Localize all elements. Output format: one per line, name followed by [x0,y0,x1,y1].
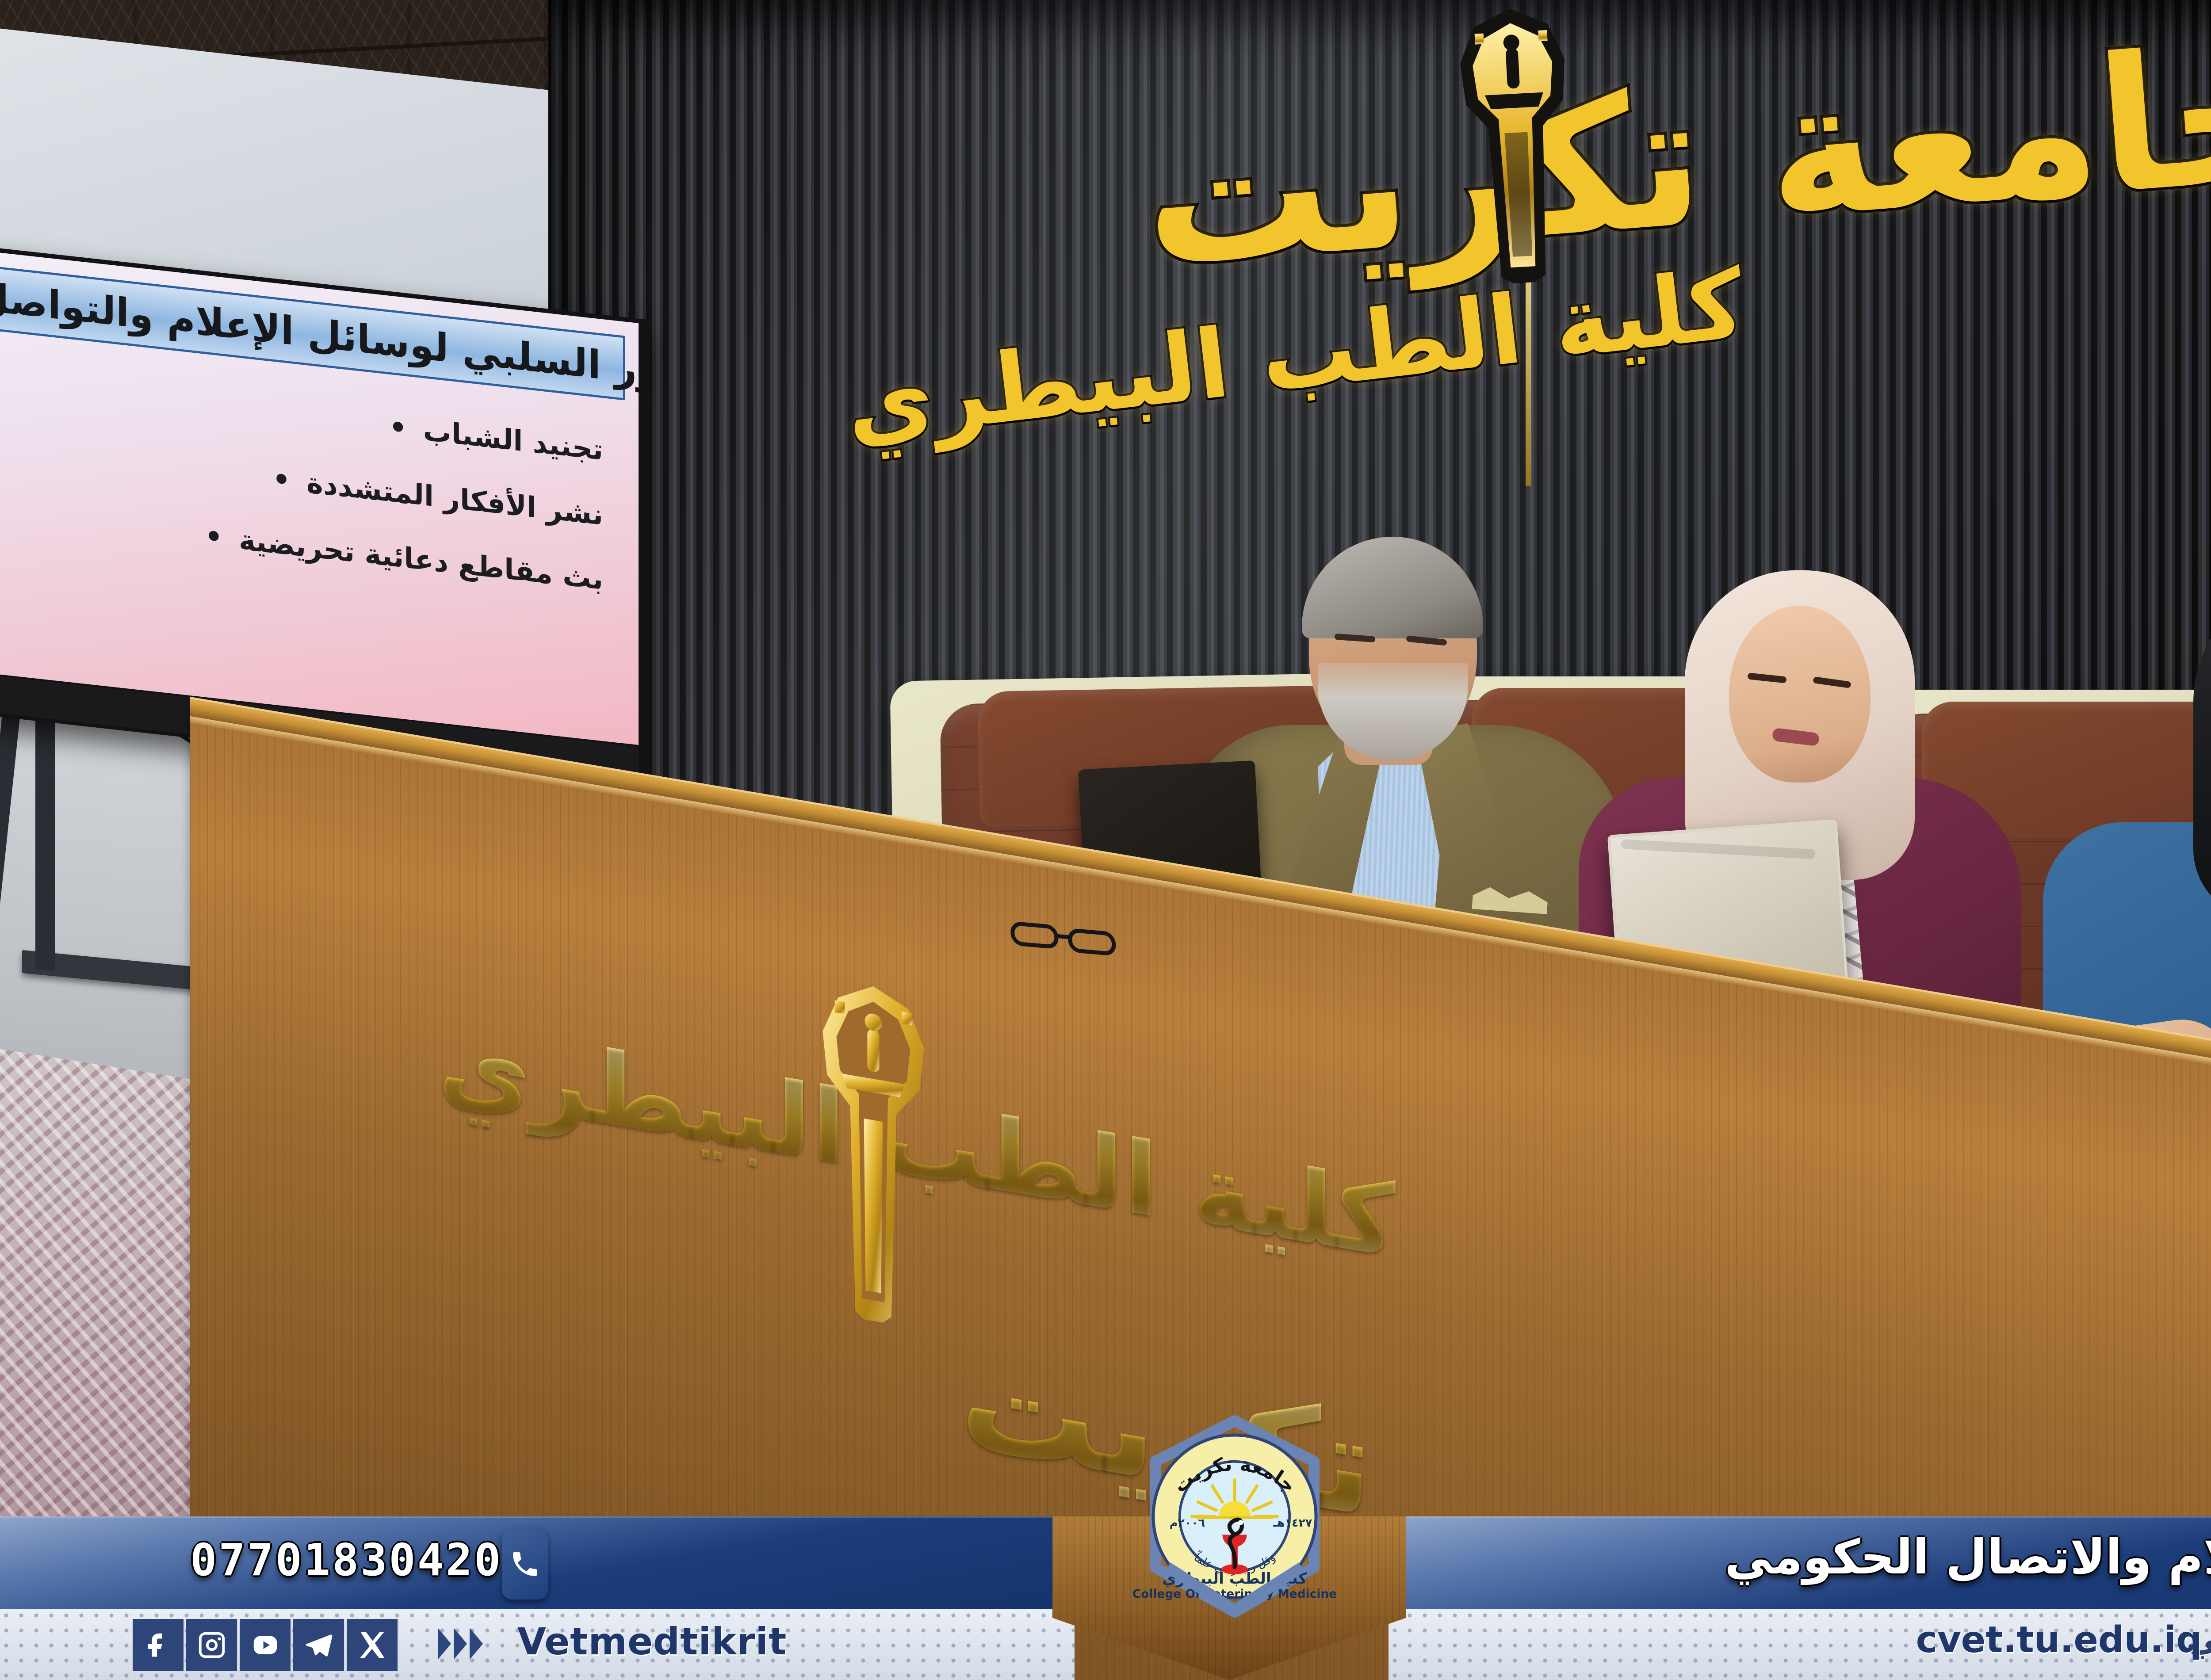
footer-website-url[interactable]: cvet.tu.edu.iq [1916,1619,2202,1661]
footer-phone-number[interactable]: 07701830420 [190,1534,502,1586]
youtube-icon[interactable] [240,1619,292,1671]
footer-social-panel: Vetmedtikrit [0,1609,1075,1680]
photo-canvas: جامعة تكريت كلية الطب البيطري [0,0,2211,1680]
footer-banner: شؤون المواطنين 07701830420 شعبة الاعلام … [0,1516,2211,1680]
promethean-display[interactable]: الدور السلبي لوسائل الإعلام والتواصل الا… [0,245,650,789]
instagram-icon[interactable] [186,1619,238,1671]
slide-bullet-list: تجنيد الشباب نشر الأفكار المتشددة بث مقا… [0,367,603,596]
footer-website-panel: الموقع الرسمي cvet.tu.edu.iq [1389,1609,2211,1680]
chevron-right-icon [438,1628,483,1660]
presentation-slide: الدور السلبي لوسائل الإعلام والتواصل الا… [0,250,639,745]
wall-emblem-icon [1434,5,1599,287]
desk-emblem-icon [800,965,946,1344]
telegram-icon[interactable] [293,1619,345,1671]
x-icon[interactable] [347,1619,399,1671]
emblem-year-hijri: ١٤٢٧هـ [1273,1516,1312,1529]
woman1-face [1729,606,1871,783]
footer-social-handle[interactable]: Vetmedtikrit [517,1620,787,1663]
footer-contact-panel: شؤون المواطنين 07701830420 [0,1516,1052,1609]
emblem-college-en: College Of Veterinary Medicine [1133,1587,1336,1601]
college-emblem: وقل رب زدني علماً جامعة تكريت [1133,1415,1336,1618]
footer-department-label: شعبة الاعلام والاتصال الحكومي [1725,1530,2211,1585]
emblem-year-gregorian: ٢٠٠٦م [1170,1516,1205,1529]
man-hair [1302,537,1483,638]
phone-icon [502,1529,548,1600]
display-screen: الدور السلبي لوسائل الإعلام والتواصل الا… [0,250,639,745]
footer-department-panel: شعبة الاعلام والاتصال الحكومي [1402,1516,2211,1609]
facebook-icon[interactable] [133,1619,185,1671]
woman2-hijab [2193,575,2211,920]
